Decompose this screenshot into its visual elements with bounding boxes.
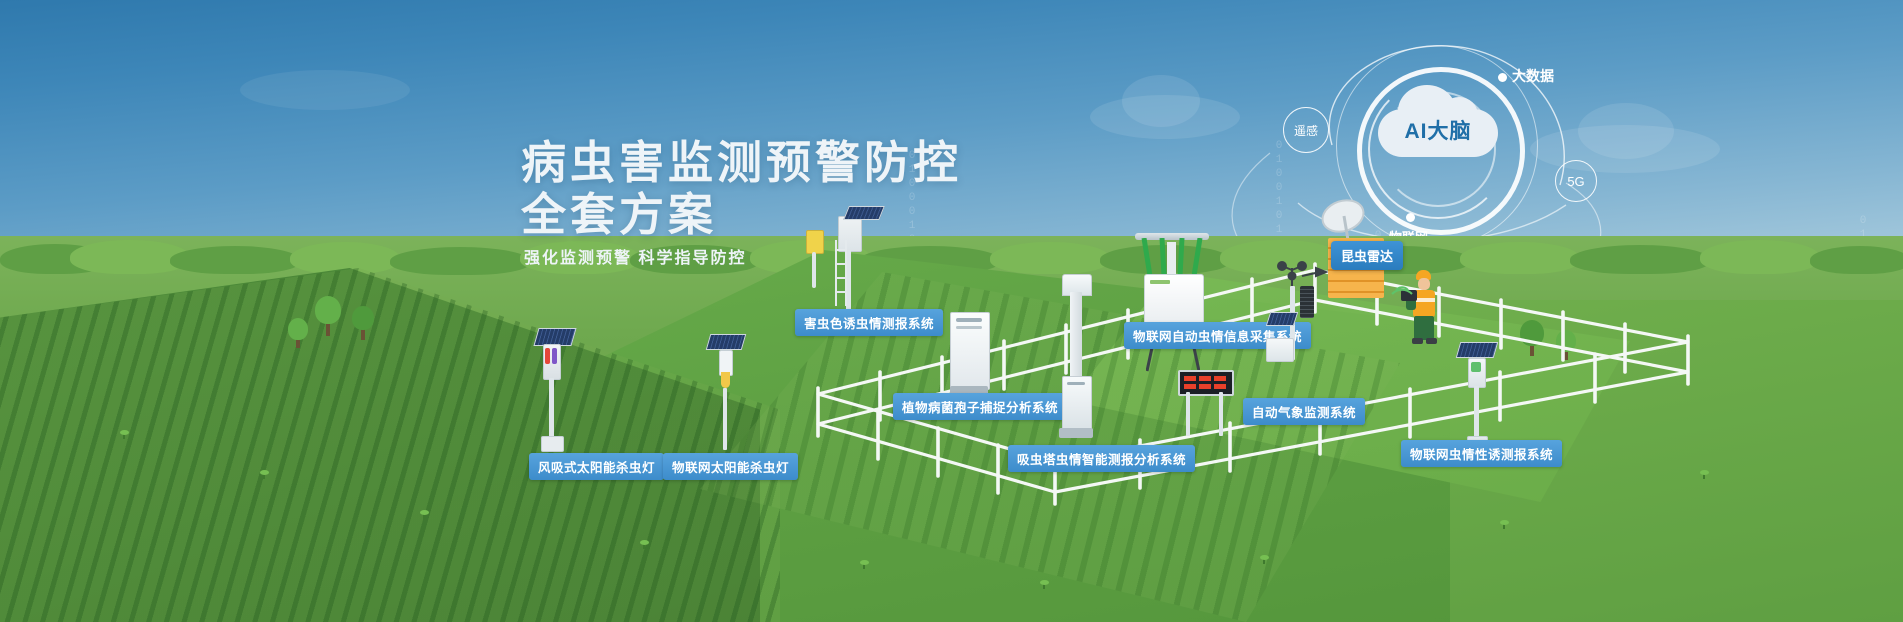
board-pole: [812, 252, 816, 288]
yellow-sticky-board: [806, 230, 824, 254]
suction-column: [1070, 292, 1082, 378]
lamp-base-box: [541, 436, 564, 452]
solar-panel: [706, 334, 747, 350]
device-label-insect-radar[interactable]: 昆虫雷达: [1331, 241, 1403, 270]
ai-brain-label: AI大脑: [1378, 115, 1498, 145]
trap-status-light: [1471, 362, 1481, 372]
lamp-indicator-purple: [552, 348, 557, 364]
crop-plant: [1260, 555, 1269, 564]
cabinet-vent: [956, 326, 982, 329]
device-label-iot-solar-lamp[interactable]: 物联网太阳能杀虫灯: [663, 453, 798, 480]
farmer-pants: [1414, 316, 1434, 340]
cabinet-vent: [956, 318, 982, 322]
farmer-shoe: [1426, 338, 1437, 344]
weather-control-box: [1266, 338, 1294, 362]
device-label-auto-weather-station[interactable]: 自动气象监测系统: [1243, 398, 1365, 425]
page-title: 病虫害监测预警防控 全套方案: [521, 137, 962, 241]
farmer-shoe: [1412, 338, 1423, 344]
device-label-color-trap-system[interactable]: 害虫色诱虫情测报系统: [795, 309, 943, 336]
device-label-spore-capture-system[interactable]: 植物病菌孢子捕捉分析系统: [893, 393, 1067, 420]
crop-plant: [640, 540, 649, 549]
cabinet-vent: [1067, 382, 1085, 385]
crop-plant: [1700, 470, 1709, 479]
page-subtitle: 强化监测预警 科学指导防控: [524, 244, 746, 268]
crop-plant: [860, 560, 869, 569]
tower-cage: [1139, 238, 1205, 276]
spore-cabinet: [950, 312, 990, 390]
pest-monitoring-hero-banner: 01000101101101 010010110100101 010100101…: [0, 0, 1903, 622]
crop-plant: [1500, 520, 1509, 529]
page-title-line-2: 全套方案: [521, 189, 962, 241]
device-label-suction-tower-system[interactable]: 吸虫塔虫情智能测报分析系统: [1008, 445, 1195, 472]
lamp-indicator-red: [545, 348, 550, 364]
page-title-line-1: 病虫害监测预警防控: [521, 137, 962, 189]
device-label-iot-sex-trap-system[interactable]: 物联网虫情性诱测报系统: [1401, 440, 1562, 467]
farmer-figure: [1400, 270, 1446, 352]
radiation-shield: [1300, 286, 1314, 318]
device-label-wind-solar-lamp[interactable]: 风吸式太阳能杀虫灯: [529, 453, 664, 480]
crop-plant: [260, 470, 269, 479]
crop-plant: [120, 430, 129, 439]
crop-plant: [420, 510, 429, 519]
wifi-signal-icon: [1394, 276, 1418, 298]
field-fence: [0, 0, 1903, 622]
farmer-head: [1418, 278, 1430, 290]
lamp-funnel: [721, 372, 730, 388]
crop-plant: [1040, 580, 1049, 589]
tower-logo: [1150, 280, 1170, 284]
cabinet-base: [1059, 428, 1093, 438]
solar-panel: [1456, 342, 1499, 358]
solar-panel: [843, 206, 885, 220]
solar-panel: [1266, 312, 1299, 326]
lamp-pole: [723, 388, 727, 450]
ladder-icon: [832, 240, 866, 310]
